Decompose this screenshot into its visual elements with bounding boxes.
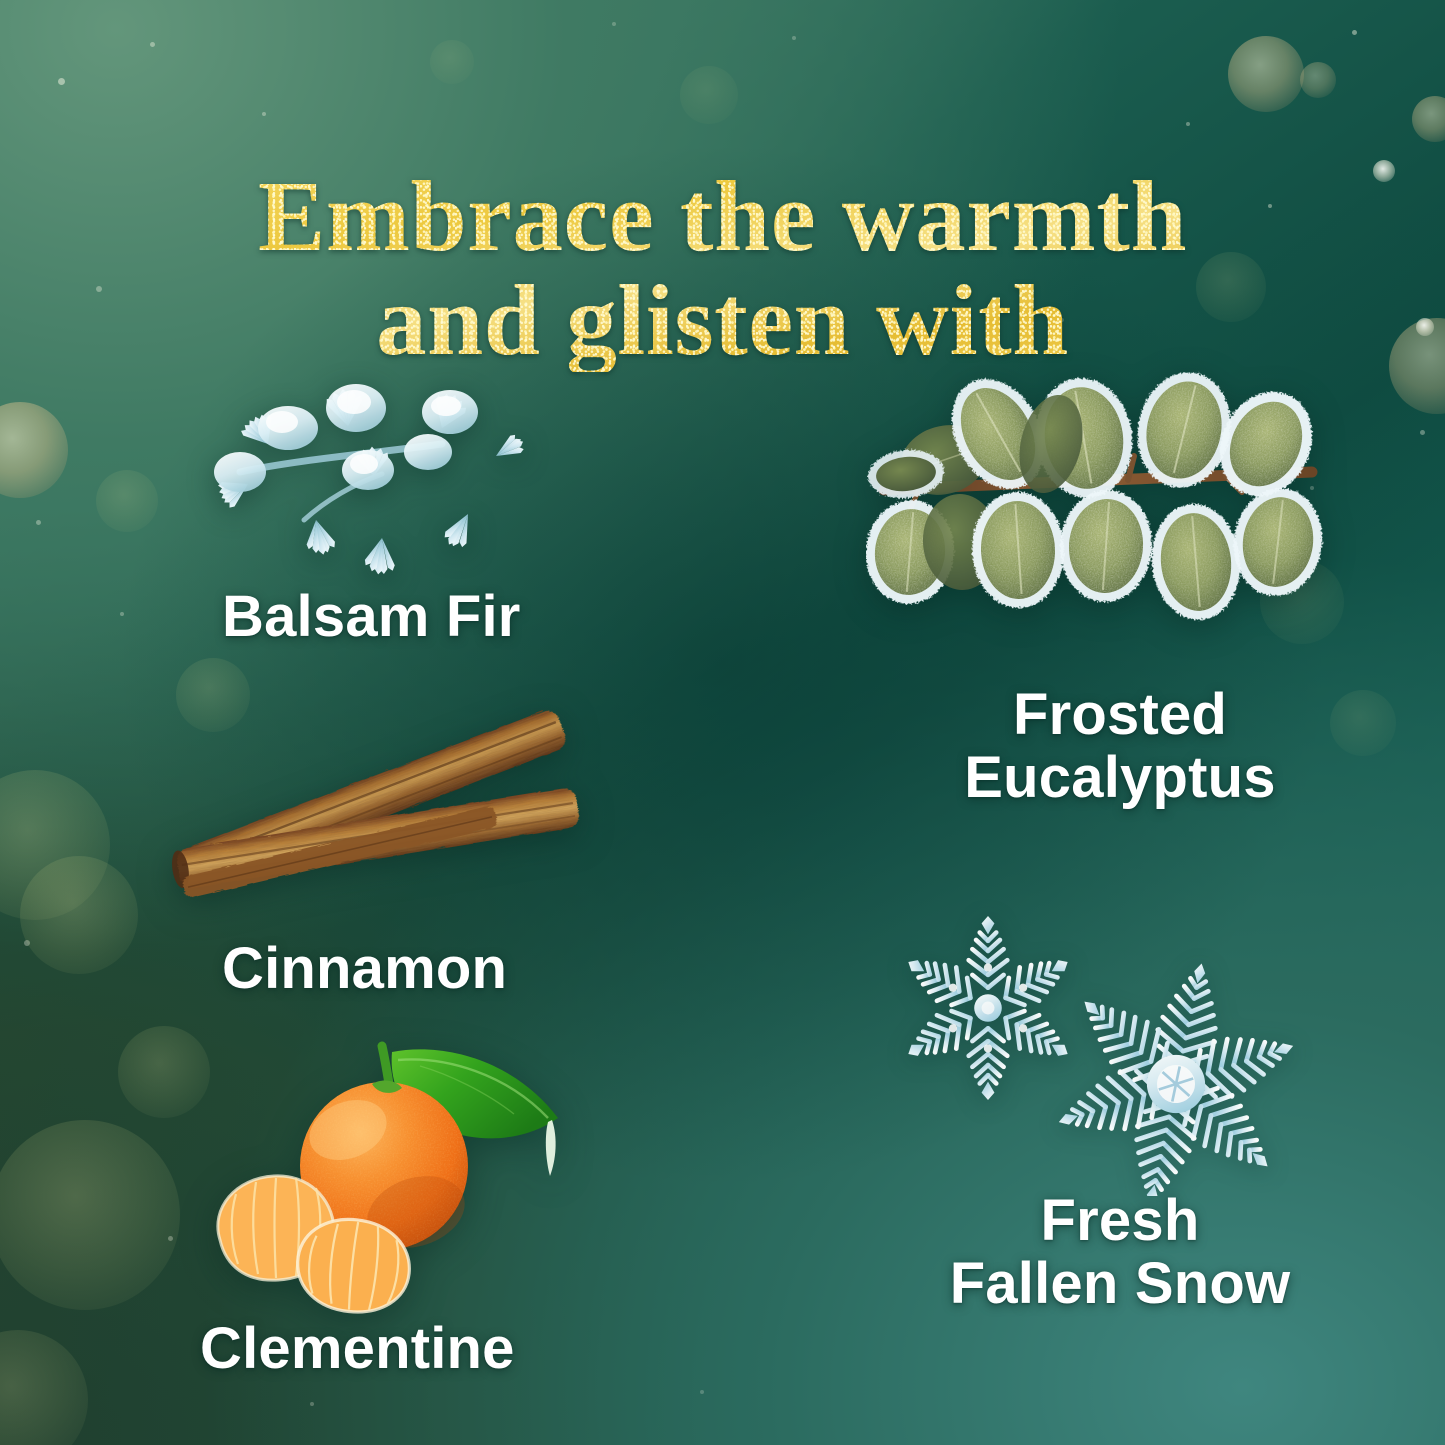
headline-line-1: Embrace the warmth <box>258 160 1187 272</box>
cinnamon-sticks-image <box>160 706 590 916</box>
scent-label-cinnamon: Cinnamon <box>222 938 507 1001</box>
promo-banner: Embrace the warmthand glisten with <box>0 0 1445 1445</box>
balsam-fir-image <box>196 324 536 586</box>
snowflakes-image <box>876 896 1296 1196</box>
scent-label-fresh-fallen-snow: Fresh Fallen Snow <box>930 1190 1310 1315</box>
scent-label-clementine: Clementine <box>200 1318 515 1381</box>
eucalyptus-sprig-image <box>866 352 1326 652</box>
clementine-fruit-image <box>196 1026 616 1326</box>
scent-label-balsam-fir: Balsam Fir <box>222 586 521 649</box>
scent-label-frosted-eucalyptus: Frosted Eucalyptus <box>950 684 1290 809</box>
